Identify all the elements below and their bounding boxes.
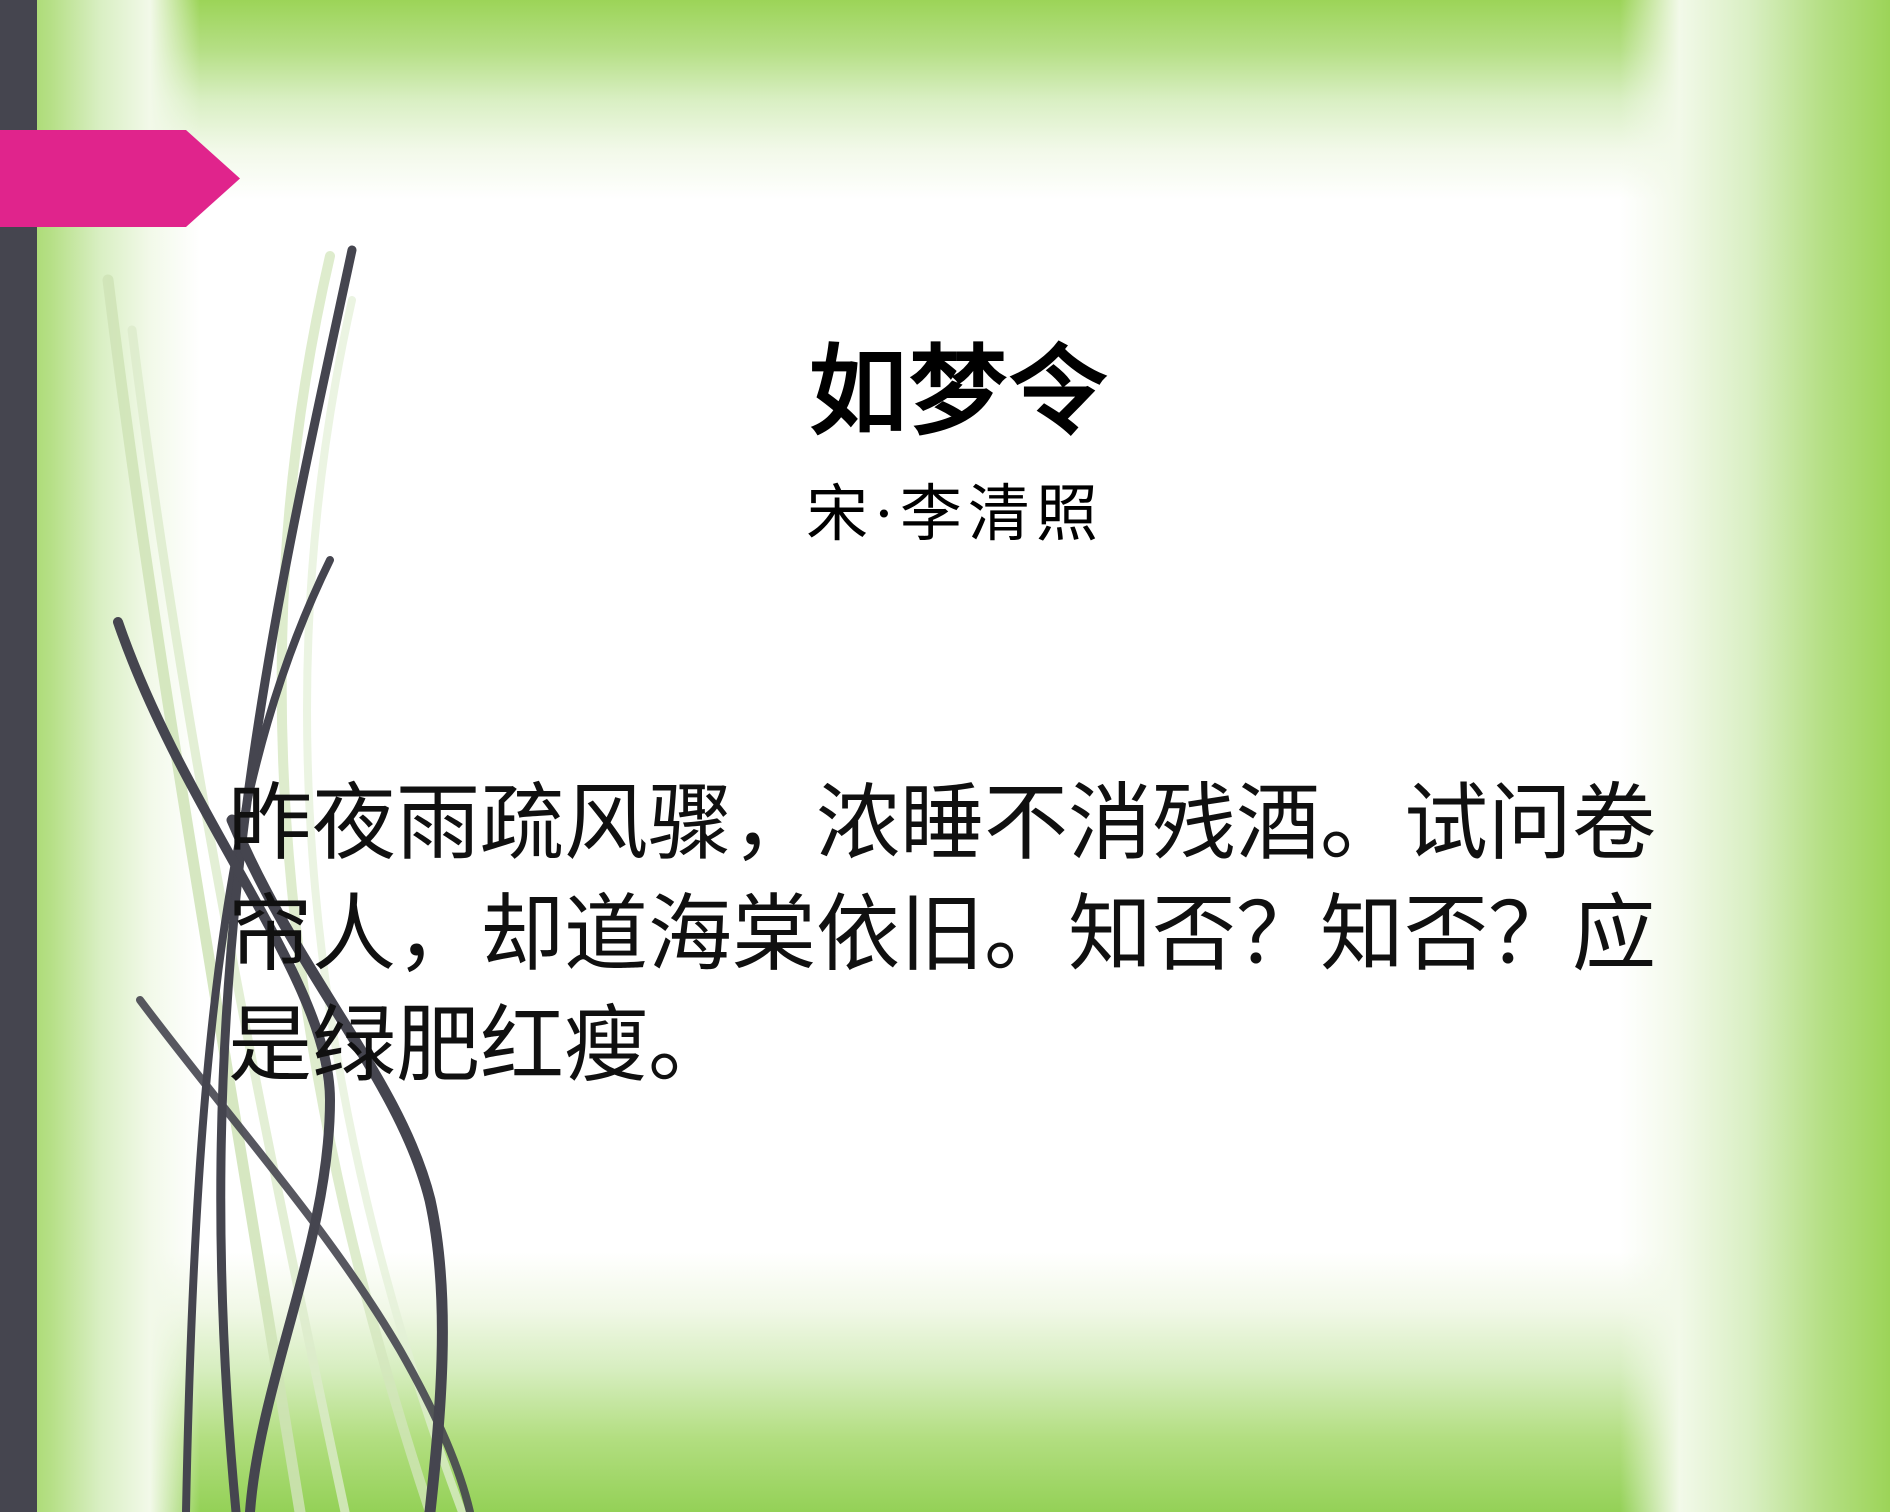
author-subtitle: 宋·李清照 (0, 478, 1890, 549)
poem-body: 昨夜雨疏风骤，浓睡不消残酒。试问卷帘人，却道海棠依旧。知否？知否？应是绿肥红瘦。 (228, 768, 1688, 1101)
slide-content: 如梦令 宋·李清照 昨夜雨疏风骤，浓睡不消残酒。试问卷帘人，却道海棠依旧。知否？… (0, 0, 1890, 1512)
page-title: 如梦令 (0, 340, 1890, 446)
slide-canvas: 如梦令 宋·李清照 昨夜雨疏风骤，浓睡不消残酒。试问卷帘人，却道海棠依旧。知否？… (0, 0, 1890, 1512)
